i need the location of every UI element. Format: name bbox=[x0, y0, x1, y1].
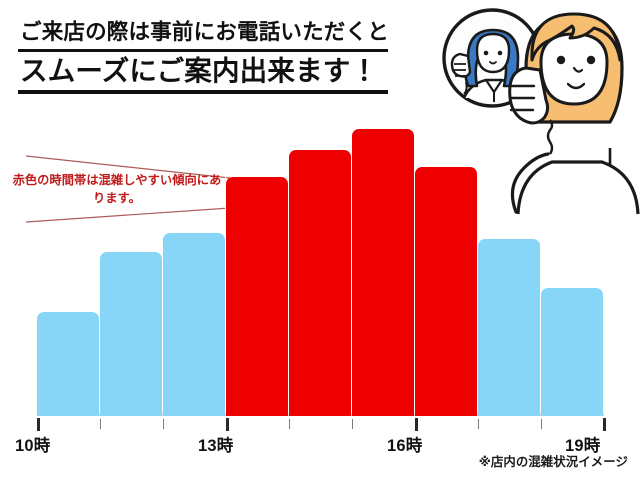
axis-color-segment bbox=[541, 412, 603, 416]
chart-bar bbox=[163, 233, 225, 413]
chart-bar bbox=[37, 312, 99, 413]
axis-label-10時: 10時 bbox=[15, 432, 50, 456]
customer-eye-right bbox=[587, 56, 595, 64]
axis-color-segment bbox=[478, 412, 540, 416]
phone-call-illustration bbox=[398, 0, 640, 226]
bar-separator bbox=[288, 150, 289, 413]
bar-separator bbox=[351, 129, 352, 413]
axis-tick-major bbox=[226, 418, 229, 431]
headline-line-2: スムーズにご案内出来ます！ bbox=[18, 53, 390, 89]
headline-line-1: ご来店の際は事前にお電話いただくと bbox=[18, 20, 390, 45]
headline-divider-bottom bbox=[18, 90, 388, 94]
customer-phone-handset bbox=[510, 68, 548, 123]
axis-color-segment bbox=[415, 412, 477, 416]
chart-bar bbox=[289, 150, 351, 413]
axis-color-segment bbox=[226, 412, 288, 416]
axis-tick-major bbox=[37, 418, 40, 431]
staff-eye-left bbox=[484, 51, 489, 56]
axis-tick-minor bbox=[163, 419, 164, 429]
headline-block: ご来店の際は事前にお電話いただくと スムーズにご案内出来ます！ bbox=[18, 20, 390, 94]
annotation-callout: 赤色の時間帯は混雑しやすい傾向にあります。 bbox=[8, 150, 233, 230]
axis-tick-minor bbox=[478, 419, 479, 429]
chart-bar bbox=[541, 288, 603, 413]
chart-bar bbox=[100, 252, 162, 413]
axis-label-16時: 16時 bbox=[387, 432, 422, 456]
chart-bar bbox=[478, 239, 540, 413]
axis-tick-major bbox=[415, 418, 418, 431]
customer-body bbox=[518, 162, 638, 214]
bar-separator bbox=[162, 233, 163, 413]
poster-canvas: ご来店の際は事前にお電話いただくと スムーズにご案内出来ます！ 赤色の時間帯は混… bbox=[0, 0, 640, 480]
axis-color-segment bbox=[163, 412, 225, 416]
axis-tick-minor bbox=[100, 419, 101, 429]
headline-divider-top bbox=[18, 49, 388, 52]
annotation-text: 赤色の時間帯は混雑しやすい傾向にあります。 bbox=[8, 172, 226, 207]
customer-phone-cord bbox=[548, 120, 552, 154]
axis-label-13時: 13時 bbox=[198, 432, 233, 456]
axis-tick-major bbox=[603, 418, 606, 431]
axis-color-segment bbox=[100, 412, 162, 416]
customer-on-phone bbox=[510, 14, 638, 214]
staff-face bbox=[477, 34, 509, 72]
customer-eye-left bbox=[557, 56, 565, 64]
axis-color-segment bbox=[37, 412, 99, 416]
bar-separator bbox=[540, 239, 541, 413]
axis-tick-minor bbox=[289, 419, 290, 429]
staff-phone-handset bbox=[452, 54, 470, 77]
axis-tick-minor bbox=[541, 419, 542, 429]
axis-color-segment bbox=[289, 412, 351, 416]
chart-axis-baseline bbox=[37, 413, 604, 416]
axis-color-segment bbox=[352, 412, 414, 416]
bar-separator bbox=[99, 252, 100, 413]
staff-eye-right bbox=[498, 51, 503, 56]
chart-footnote: ※店内の混雑状況イメージ bbox=[479, 452, 628, 470]
axis-tick-minor bbox=[352, 419, 353, 429]
